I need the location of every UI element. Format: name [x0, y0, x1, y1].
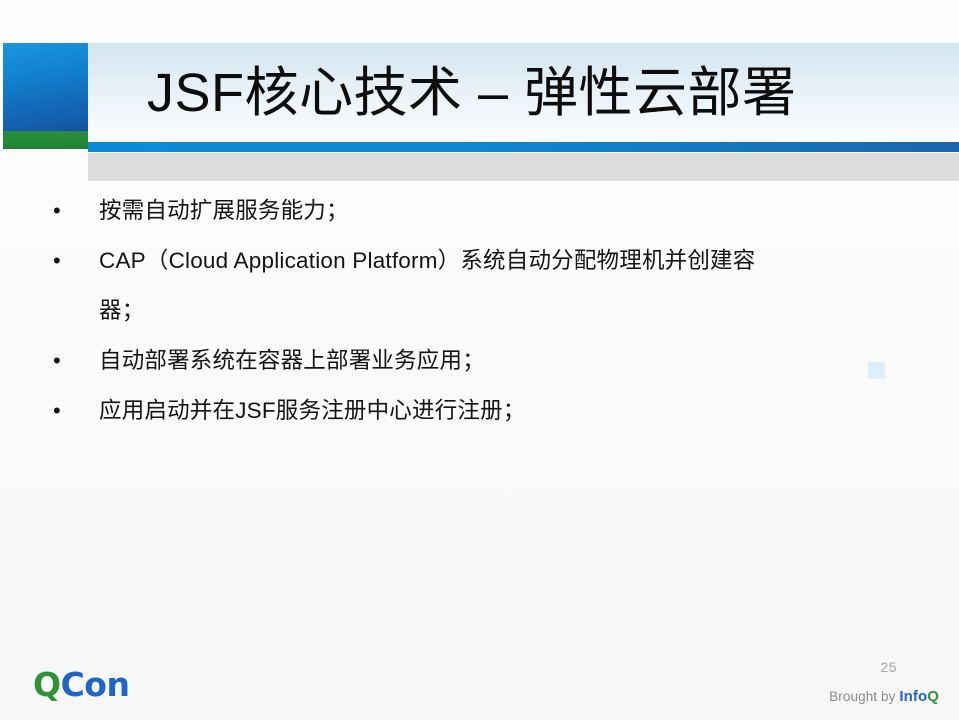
bullet-line: 应用启动并在JSF服务注册中心进行注册；: [99, 386, 924, 436]
bullet-marker-icon: •: [44, 186, 99, 236]
bullet-text: CAP（Cloud Application Platform）系统自动分配物理机…: [99, 236, 924, 336]
infoq-logo-q: Q: [927, 688, 939, 705]
qcon-logo-con: Con: [61, 665, 130, 704]
bullet-list: • 按需自动扩展服务能力； • CAP（Cloud Application Pl…: [44, 186, 924, 436]
bullet-marker-icon: •: [44, 236, 99, 286]
list-item: • CAP（Cloud Application Platform）系统自动分配物…: [44, 236, 924, 336]
slide-header: JSF核心技术 – 弹性云部署: [0, 0, 959, 185]
bullet-line: CAP（Cloud Application Platform）系统自动分配物理机…: [99, 236, 924, 286]
bullet-line: 按需自动扩展服务能力；: [99, 186, 924, 236]
list-item: • 按需自动扩展服务能力；: [44, 186, 924, 236]
page-title: JSF核心技术 – 弹性云部署: [147, 52, 947, 134]
bullet-text: 按需自动扩展服务能力；: [99, 186, 924, 236]
qcon-logo-q: Q: [33, 665, 61, 704]
header-blue-block: [3, 43, 88, 131]
page-number: 25: [880, 659, 897, 675]
qcon-logo: QCon: [33, 666, 129, 704]
bullet-text: 应用启动并在JSF服务注册中心进行注册；: [99, 386, 924, 436]
brought-by-label: Brought by: [829, 689, 899, 704]
header-green-block: [3, 131, 88, 149]
header-blue-bar: [88, 142, 959, 152]
header-gray-band: [88, 153, 959, 181]
bullet-line: 自动部署系统在容器上部署业务应用；: [99, 336, 924, 386]
slide-canvas: JSF核心技术 – 弹性云部署 • 按需自动扩展服务能力； • CAP（Clou…: [0, 0, 959, 720]
bullet-marker-icon: •: [44, 386, 99, 436]
brought-by-infoq: Brought by InfoQ: [829, 688, 939, 705]
bullet-line-wrapped: 器；: [99, 286, 924, 336]
infoq-logo-info: Info: [899, 688, 927, 705]
list-item: • 应用启动并在JSF服务注册中心进行注册；: [44, 386, 924, 436]
decorative-square: [868, 362, 885, 379]
list-item: • 自动部署系统在容器上部署业务应用；: [44, 336, 924, 386]
bullet-text: 自动部署系统在容器上部署业务应用；: [99, 336, 924, 386]
bullet-marker-icon: •: [44, 336, 99, 386]
